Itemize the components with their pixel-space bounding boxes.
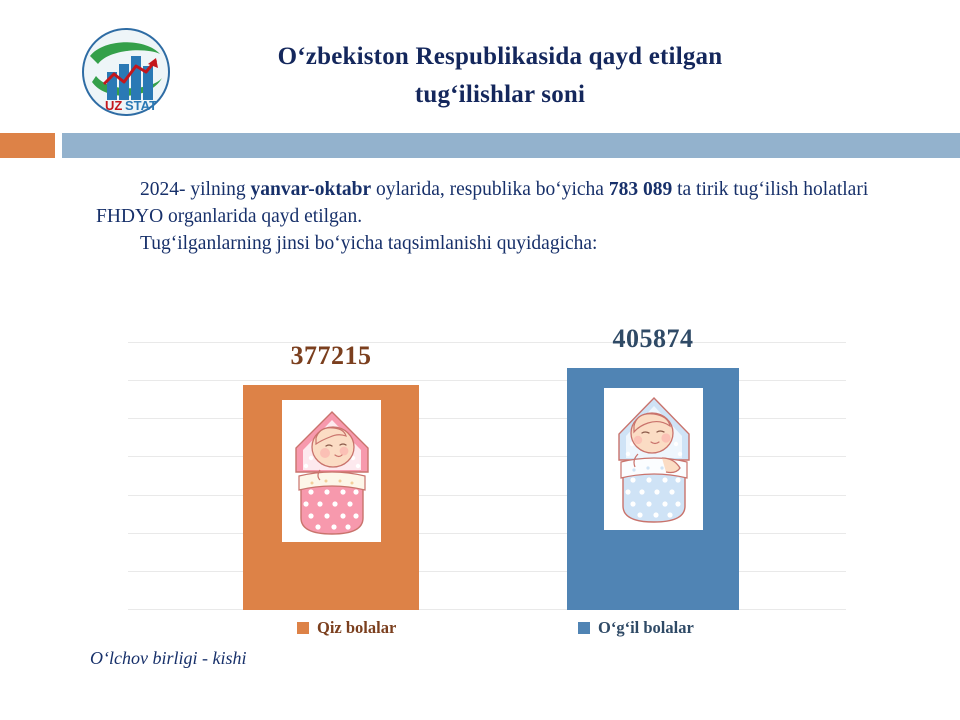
bar-value-label-boys: 405874	[567, 324, 739, 354]
title-line-2: tug‘ilishlar soni	[180, 76, 820, 114]
paragraph-distribution: Tug‘ilganlarning jinsi bo‘yicha taqsimla…	[96, 230, 886, 257]
uzstat-logo: UZ STAT	[80, 26, 172, 118]
bar-boys[interactable]	[567, 368, 739, 610]
logo-text-stat: STAT	[125, 98, 157, 113]
para1-part1: 2024- yilning	[140, 179, 251, 200]
para1-bold-period: yanvar-oktabr	[251, 179, 372, 200]
chart-plot-area: 377215	[128, 342, 846, 610]
title-line-1: O‘zbekiston Respublikasida qayd etilgan	[180, 38, 820, 76]
legend-label-boys: O‘g‘il bolalar	[598, 618, 694, 638]
bar-group-girls: 377215	[243, 342, 419, 610]
births-by-sex-chart: 377215	[0, 330, 960, 660]
unit-footnote: O‘lchov birligi - kishi	[90, 648, 246, 669]
legend-label-girls: Qiz bolalar	[317, 618, 396, 638]
legend-swatch-boys-icon	[578, 622, 590, 634]
para1-part2: oylarida, respublika bo‘yicha	[371, 179, 609, 200]
legend-item-girls[interactable]: Qiz bolalar	[297, 618, 396, 638]
baby-girl-image	[282, 400, 381, 542]
page-header: UZ STAT O‘zbekiston Respublikasida qayd …	[0, 0, 960, 130]
body-text: 2024- yilning yanvar-oktabr oylarida, re…	[96, 176, 886, 257]
bar-group-boys: 405874	[567, 342, 739, 610]
divider-main-block	[62, 133, 960, 158]
para1-bold-count: 783 089	[609, 179, 672, 200]
chart-legend: Qiz bolalar O‘g‘il bolalar	[0, 618, 960, 644]
page-title: O‘zbekiston Respublikasida qayd etilgan …	[180, 38, 820, 114]
bar-value-label-girls: 377215	[243, 341, 419, 371]
legend-item-boys[interactable]: O‘g‘il bolalar	[578, 618, 694, 638]
legend-swatch-girls-icon	[297, 622, 309, 634]
divider-bar	[0, 133, 960, 158]
paragraph-births-total: 2024- yilning yanvar-oktabr oylarida, re…	[96, 176, 886, 230]
divider-accent-block	[0, 133, 55, 158]
logo-text-uz: UZ	[105, 98, 122, 113]
baby-boy-image	[604, 388, 703, 530]
bar-girls[interactable]	[243, 385, 419, 610]
